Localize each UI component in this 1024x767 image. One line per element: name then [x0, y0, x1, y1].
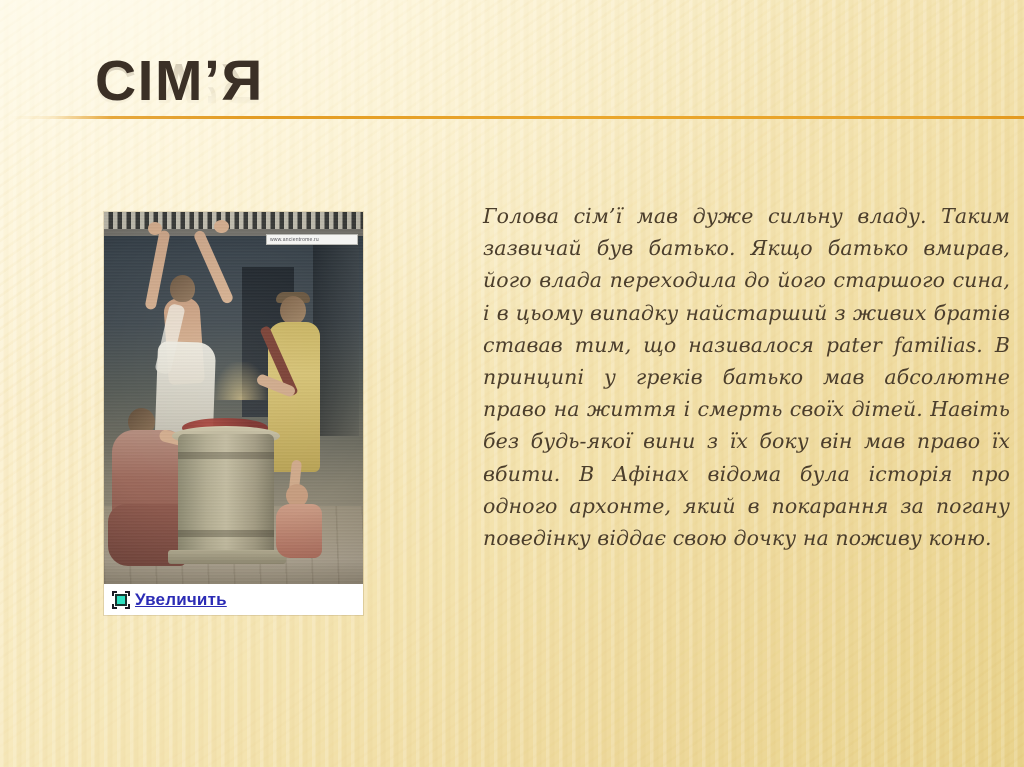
picture-caption-bar[interactable]: Увеличить	[104, 584, 363, 615]
zoom-enlarge-icon	[112, 591, 130, 609]
painting-grain	[104, 212, 363, 584]
picture-block[interactable]: www.ancientrome.ru Увеличить	[104, 212, 363, 615]
slide-canvas: СІМ’Я СІМ’Я	[0, 0, 1024, 767]
enlarge-link[interactable]: Увеличить	[135, 590, 227, 610]
page-title: СІМ’Я	[95, 52, 264, 110]
painting-watermark: www.ancientrome.ru	[266, 234, 358, 245]
painting-watermark-text: www.ancientrome.ru	[270, 237, 319, 243]
slide-title-zone: СІМ’Я СІМ’Я	[0, 52, 1024, 162]
greek-family-painting[interactable]: www.ancientrome.ru	[104, 212, 363, 584]
body-paragraph: Голова сім’ї мав дуже сильну владу. Таки…	[483, 200, 1010, 554]
title-accent-rule	[10, 116, 1024, 119]
